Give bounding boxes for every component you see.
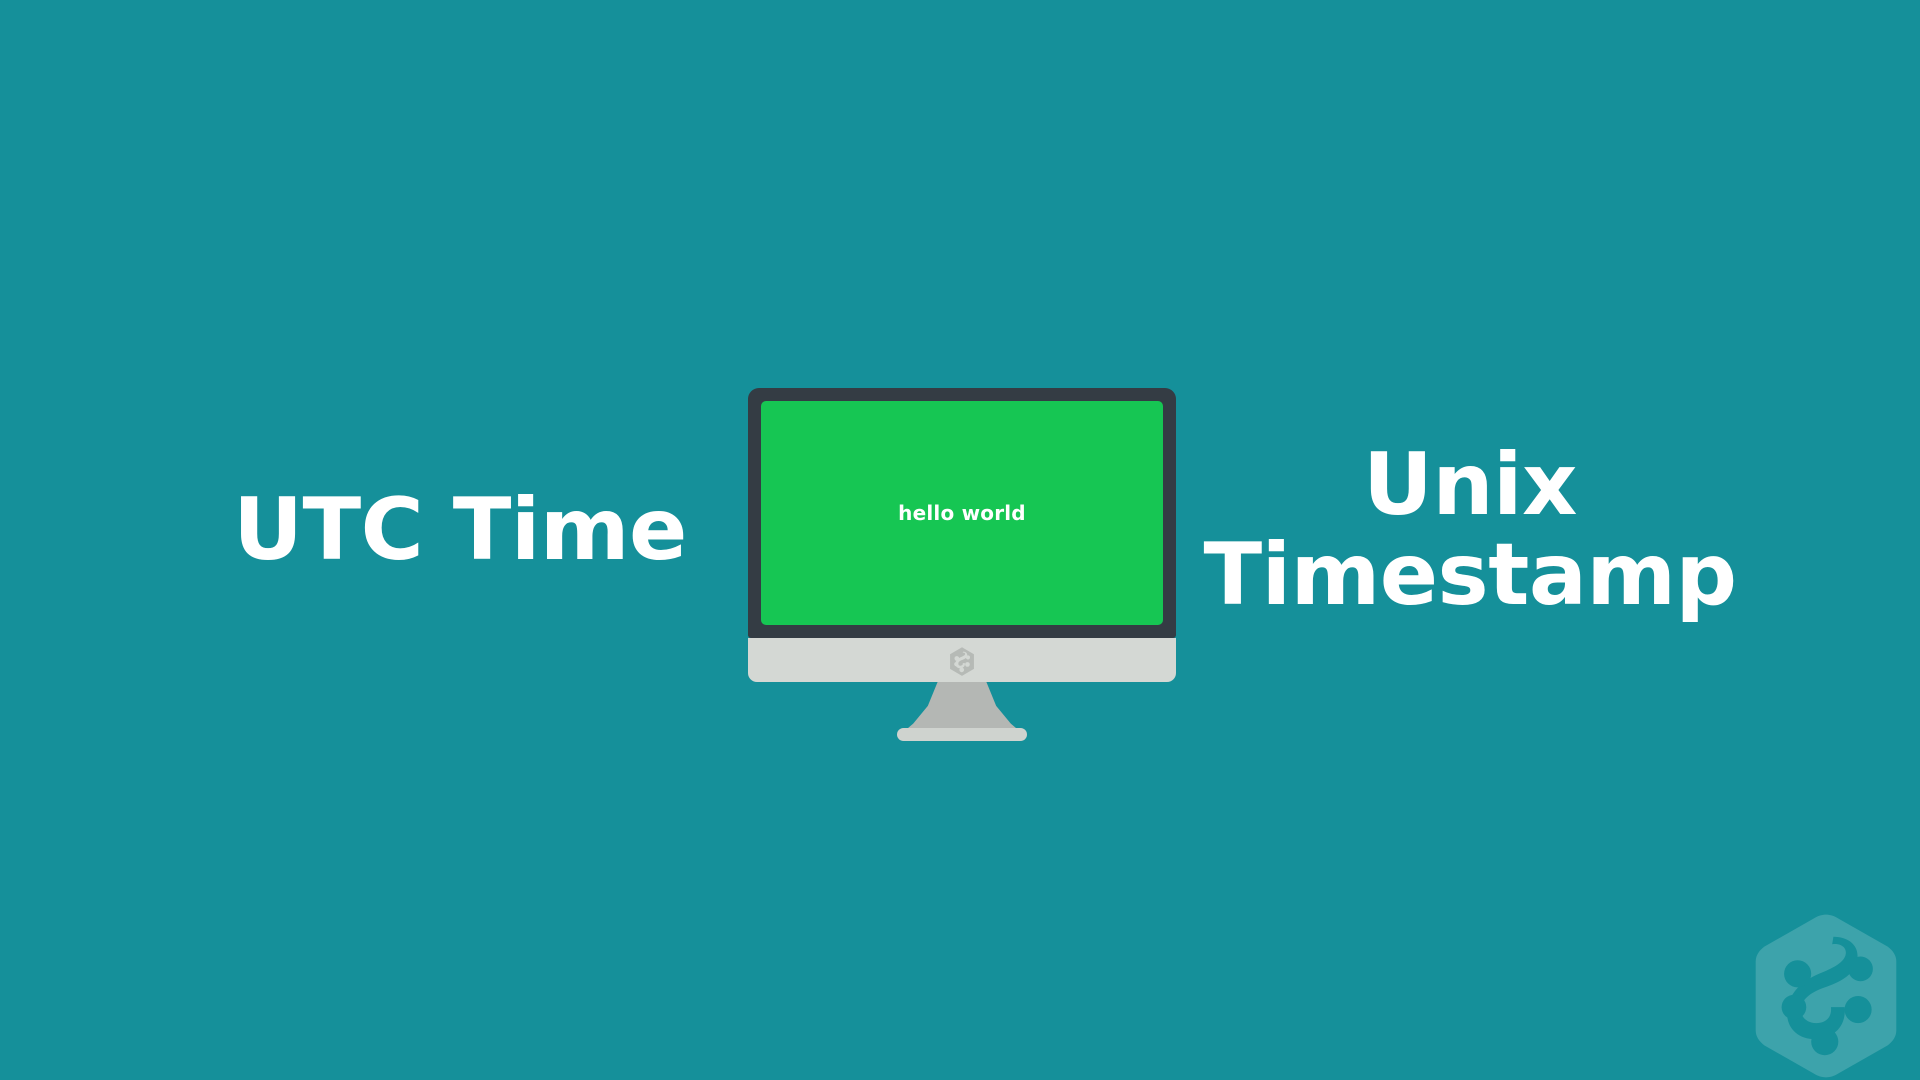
exercism-logo-icon: [949, 647, 975, 675]
monitor-bezel: hello world: [748, 388, 1176, 638]
screen-text-hello-world: hello world: [898, 501, 1026, 525]
caption-unix-timestamp: Unix Timestamp: [1185, 440, 1755, 621]
exercism-logo-watermark: [1752, 912, 1900, 1080]
monitor-screen: hello world: [761, 401, 1163, 625]
monitor-stand-base: [897, 728, 1027, 741]
slide-canvas: UTC Time hello world: [0, 0, 1920, 1080]
monitor-chin: [748, 638, 1176, 682]
monitor-stand-neck: [901, 682, 1023, 734]
monitor-illustration: hello world: [748, 388, 1176, 744]
caption-utc-time: UTC Time: [150, 485, 770, 575]
